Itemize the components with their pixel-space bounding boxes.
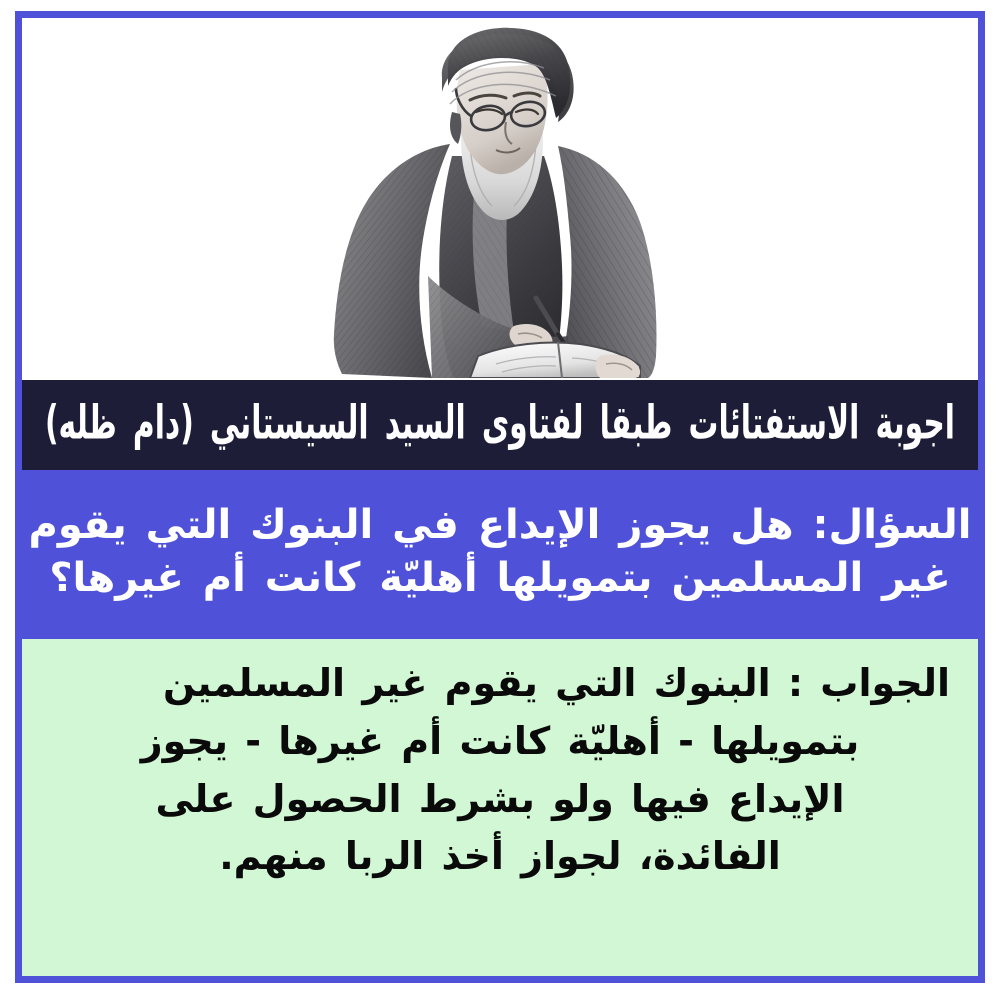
title-text: اجوبة الاستفتائات طبقا لفتاوى السيد السي… <box>45 400 955 450</box>
fatwa-card: اجوبة الاستفتائات طبقا لفتاوى السيد السي… <box>15 11 985 983</box>
answer-line-4: الفائدة، لجواز أخذ الربا منهم. <box>219 828 781 886</box>
question-section: السؤال: هل يجوز الإيداع في البنوك التي ي… <box>22 470 978 639</box>
answer-line-1: الجواب : البنوك التي يقوم غير المسلمين <box>50 655 950 713</box>
answer-section: الجواب : البنوك التي يقوم غير المسلمين ب… <box>22 639 978 976</box>
title-band: اجوبة الاستفتائات طبقا لفتاوى السيد السي… <box>22 380 978 470</box>
question-line-2: غير المسلمين بتمويلها أهليّة كانت أم غير… <box>49 552 950 605</box>
portrait-panel <box>22 18 978 380</box>
answer-line-2: بتمويلها - أهليّة كانت أم غيرها - يجوز <box>141 713 860 771</box>
question-line-1: السؤال: هل يجوز الإيداع في البنوك التي ي… <box>29 499 972 552</box>
cleric-portrait-image <box>300 26 700 378</box>
answer-line-3: الإيداع فيها ولو بشرط الحصول على <box>156 771 845 829</box>
